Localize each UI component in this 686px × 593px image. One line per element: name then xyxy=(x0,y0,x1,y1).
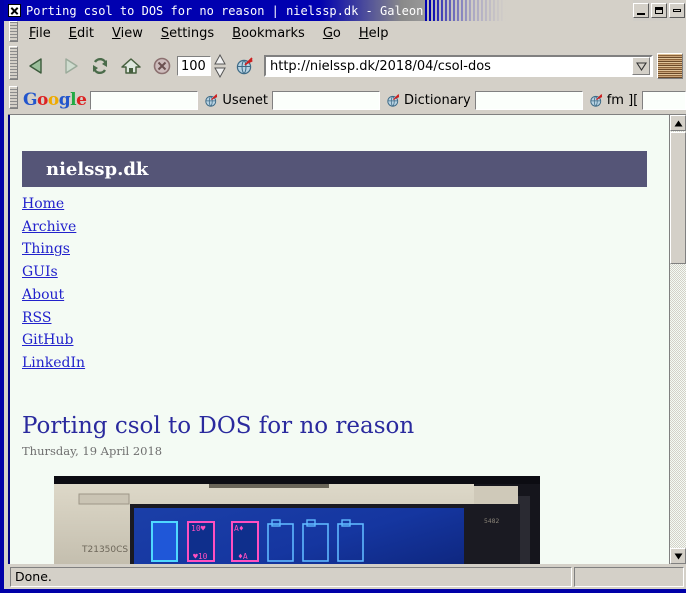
menu-item-bookmarks[interactable]: Bookmarks xyxy=(223,23,314,44)
post-date: Thursday, 19 April 2018 xyxy=(22,444,669,458)
nav-link-home[interactable]: Home xyxy=(22,193,669,216)
post-photo: T21350CS 5482 10♥ ♥10 A♦ ♦A xyxy=(54,476,540,564)
google-logo-g1: G xyxy=(23,90,37,110)
title-bar-filler xyxy=(515,0,633,21)
back-arrow-icon xyxy=(27,57,49,75)
reload-button[interactable] xyxy=(84,51,115,82)
nav-link-rss[interactable]: RSS xyxy=(22,307,669,330)
scroll-up-arrow-icon xyxy=(674,120,683,127)
usenet-label-text: Usenet xyxy=(222,93,268,108)
google-logo-o1: o xyxy=(37,90,48,110)
google-search-input[interactable] xyxy=(90,91,198,110)
url-dropdown-button[interactable] xyxy=(632,57,650,75)
window-title: Porting csol to DOS for no reason | niel… xyxy=(26,4,423,18)
scroll-down-arrow-icon xyxy=(674,553,683,560)
url-bar[interactable]: http://nielssp.dk/2018/04/csol-dos xyxy=(264,55,653,77)
menu-accel-settings: S xyxy=(161,26,169,41)
svg-text:5482: 5482 xyxy=(484,518,499,525)
reload-icon xyxy=(89,56,111,76)
scrollbar-thumb[interactable] xyxy=(670,132,686,264)
status-bar: Done. xyxy=(8,564,686,589)
menu-label-view: iew xyxy=(121,26,143,41)
minimize-button[interactable] xyxy=(633,3,649,18)
scrollbar-track[interactable] xyxy=(670,264,686,548)
globe-dictionary-icon xyxy=(386,93,401,108)
google-logo-o2: o xyxy=(48,90,59,110)
menu-accel-view: V xyxy=(112,26,121,41)
fm-search-label[interactable]: fm ][ xyxy=(583,93,643,108)
nav-link-github[interactable]: GitHub xyxy=(22,329,669,352)
google-logo-e: e xyxy=(76,90,86,110)
svg-text:♥10: ♥10 xyxy=(193,552,208,561)
menu-label-settings: ettings xyxy=(169,26,214,41)
google-logo: Google xyxy=(21,90,90,110)
throbber-icon[interactable] xyxy=(657,53,683,79)
search-toolbar-grip[interactable] xyxy=(9,86,18,109)
search-toolbar: Google Usenet Dictionary xyxy=(8,86,686,114)
menu-item-help[interactable]: Help xyxy=(350,23,398,44)
zoom-spinner-icon[interactable] xyxy=(213,53,227,79)
svg-text:10♥: 10♥ xyxy=(191,524,206,533)
globe-fm-icon xyxy=(589,93,604,108)
menu-label-file: ile xyxy=(36,26,51,41)
menu-bar-grip[interactable] xyxy=(9,21,18,42)
dictionary-search-label[interactable]: Dictionary xyxy=(380,93,475,108)
forward-button[interactable] xyxy=(53,51,84,82)
scroll-up-button[interactable] xyxy=(670,115,686,131)
browser-window: Porting csol to DOS for no reason | niel… xyxy=(0,0,686,593)
site-title: nielssp.dk xyxy=(22,159,148,180)
menu-item-file[interactable]: File xyxy=(20,23,60,44)
google-logo-g2: g xyxy=(59,90,70,110)
usenet-search-input[interactable] xyxy=(272,91,380,110)
menu-accel-help: H xyxy=(359,26,369,41)
title-bar[interactable]: Porting csol to DOS for no reason | niel… xyxy=(4,0,686,21)
menu-label-go: o xyxy=(333,26,341,41)
globe-usenet-icon xyxy=(204,93,219,108)
menu-accel-go: G xyxy=(323,26,333,41)
dictionary-label-text: Dictionary xyxy=(404,93,471,108)
thinkpad-csol-photo: T21350CS 5482 10♥ ♥10 A♦ ♦A xyxy=(54,476,540,564)
menu-item-settings[interactable]: Settings xyxy=(152,23,223,44)
menu-item-view[interactable]: View xyxy=(103,23,152,44)
nav-link-linkedin[interactable]: LinkedIn xyxy=(22,352,669,375)
close-button[interactable] xyxy=(669,3,685,18)
globe-bookmark-icon xyxy=(235,56,255,76)
nav-link-about[interactable]: About xyxy=(22,284,669,307)
svg-text:A♦: A♦ xyxy=(234,524,244,533)
chevron-down-icon xyxy=(636,62,647,71)
page-title: Porting csol to DOS for no reason xyxy=(22,413,669,439)
nav-link-guis[interactable]: GUIs xyxy=(22,261,669,284)
menu-label-edit: dit xyxy=(77,26,94,41)
maximize-button[interactable] xyxy=(651,3,667,18)
menu-accel-bookmarks: B xyxy=(232,26,241,41)
url-input[interactable]: http://nielssp.dk/2018/04/csol-dos xyxy=(266,59,632,74)
vertical-scrollbar[interactable] xyxy=(669,115,686,564)
home-button[interactable] xyxy=(115,51,146,82)
fm-label-text: fm ][ xyxy=(607,93,639,108)
site-banner: nielssp.dk xyxy=(22,151,647,187)
stop-icon xyxy=(152,56,172,76)
content-viewport: nielssp.dk Home Archive Things GUIs Abou… xyxy=(8,114,686,564)
bookmark-button[interactable] xyxy=(229,51,260,82)
svg-text:♦A: ♦A xyxy=(238,552,248,561)
toolbar-grip[interactable] xyxy=(9,46,18,80)
zoom-level-input[interactable]: 100 xyxy=(177,56,211,76)
menu-bar: File Edit View Settings Bookmarks Go Hel… xyxy=(8,21,686,46)
menu-label-help: elp xyxy=(369,26,389,41)
menu-accel-edit: E xyxy=(69,26,77,41)
fm-search-input[interactable] xyxy=(642,91,686,110)
window-controls xyxy=(633,3,686,18)
dictionary-search-input[interactable] xyxy=(475,91,583,110)
menu-item-edit[interactable]: Edit xyxy=(60,23,103,44)
usenet-search-label[interactable]: Usenet xyxy=(198,93,272,108)
window-menu-icon[interactable] xyxy=(8,4,21,17)
status-message: Done. xyxy=(10,567,572,587)
menu-label-bookmarks: ookmarks xyxy=(241,26,305,41)
scroll-down-button[interactable] xyxy=(670,548,686,564)
status-progress-area xyxy=(574,567,684,587)
nav-link-archive[interactable]: Archive xyxy=(22,216,669,239)
stop-button[interactable] xyxy=(146,51,177,82)
title-bar-gradient xyxy=(425,0,515,21)
nav-link-things[interactable]: Things xyxy=(22,238,669,261)
home-icon xyxy=(120,56,142,76)
svg-text:T21350CS: T21350CS xyxy=(81,545,128,555)
back-button[interactable] xyxy=(22,51,53,82)
site-navigation: Home Archive Things GUIs About RSS GitHu… xyxy=(22,193,669,375)
navigation-toolbar: 100 http://nielssp.dk/2018/04/csol-dos xyxy=(8,46,686,86)
menu-item-go[interactable]: Go xyxy=(314,23,350,44)
web-page: nielssp.dk Home Archive Things GUIs Abou… xyxy=(8,115,669,564)
forward-arrow-icon xyxy=(58,57,80,75)
